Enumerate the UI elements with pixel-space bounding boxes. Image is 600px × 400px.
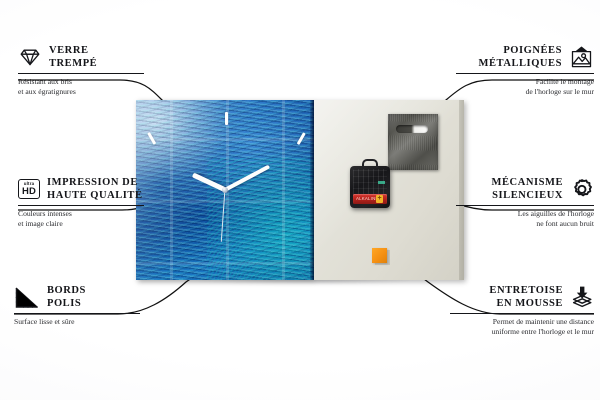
callout-underline xyxy=(450,313,594,314)
press-down-pad-icon xyxy=(570,285,594,309)
callout-entretoise-en-mousse: ENTRETOISE EN MOUSSE Permet de maintenir… xyxy=(450,284,594,336)
callout-title: ENTRETOISE EN MOUSSE xyxy=(489,284,563,310)
callout-underline xyxy=(14,313,140,314)
battery-plus-terminal: + xyxy=(376,195,383,203)
diamond-icon xyxy=(18,47,42,67)
callout-subtitle: Les aiguilles de l'horloge ne font aucun… xyxy=(456,209,594,228)
callout-subtitle: Couleurs intenses et image claire xyxy=(18,209,144,228)
callout-subtitle: Surface lisse et sûre xyxy=(14,317,140,327)
callout-header: MÉCANISME SILENCIEUX xyxy=(456,176,594,202)
metal-grain-texture xyxy=(388,114,438,170)
foam-spacer xyxy=(372,248,387,263)
callout-underline xyxy=(18,73,144,74)
movement-indicator xyxy=(378,181,385,184)
callout-subtitle: Résistant aux bris et aux égratignures xyxy=(18,77,144,96)
battery: ALKALINE + xyxy=(353,194,387,204)
gear-icon xyxy=(570,178,594,201)
hanging-frame-icon xyxy=(569,46,594,68)
ultra-hd-icon-large-text: HD xyxy=(22,187,36,197)
callout-title: MÉCANISME SILENCIEUX xyxy=(492,176,563,202)
callout-bords-polis: BORDS POLIS Surface lisse et sûre xyxy=(14,284,140,327)
callout-underline xyxy=(456,73,594,74)
callout-title: VERRE TREMPÉ xyxy=(49,44,97,70)
callout-header: ENTRETOISE EN MOUSSE xyxy=(450,284,594,310)
callout-underline xyxy=(18,205,144,206)
ultra-hd-icon: ultra HD xyxy=(18,179,40,199)
callout-title: POIGNÉES MÉTALLIQUES xyxy=(479,44,562,70)
callout-title: IMPRESSION DE HAUTE QUALITÉ xyxy=(47,176,143,202)
callout-header: VERRE TREMPÉ xyxy=(18,44,144,70)
hanger-slot xyxy=(396,125,428,133)
callout-underline xyxy=(456,205,594,206)
metal-hanger-plate xyxy=(388,114,438,170)
callout-header: ultra HD IMPRESSION DE HAUTE QUALITÉ xyxy=(18,176,144,202)
movement-hanging-hook xyxy=(362,159,378,168)
callout-subtitle: Permet de maintenir une distance uniform… xyxy=(450,317,594,336)
clock-movement: ALKALINE + xyxy=(350,166,390,208)
clock-back-panel: ALKALINE + xyxy=(314,100,464,280)
callout-subtitle: Facilite le montage de l'horloge sur le … xyxy=(456,77,594,96)
product-photo-group: ALKALINE + xyxy=(136,100,464,280)
callout-impression-haute-qualite: ultra HD IMPRESSION DE HAUTE QUALITÉ Cou… xyxy=(18,176,144,228)
beveled-edge-icon xyxy=(14,286,40,308)
callout-header: POIGNÉES MÉTALLIQUES xyxy=(456,44,594,70)
callout-mecanisme-silencieux: MÉCANISME SILENCIEUX Les aiguilles de l'… xyxy=(456,176,594,228)
clock-face-front xyxy=(136,100,314,280)
callout-verre-trempe: VERRE TREMPÉ Résistant aux bris et aux é… xyxy=(18,44,144,96)
infographic-canvas: ALKALINE + VERRE TREMPÉ Résistant aux br… xyxy=(0,0,600,400)
callout-title: BORDS POLIS xyxy=(47,284,86,310)
callout-header: BORDS POLIS xyxy=(14,284,140,310)
callout-poignees-metalliques: POIGNÉES MÉTALLIQUES Facilite le montage… xyxy=(456,44,594,96)
glass-reflection xyxy=(136,100,314,280)
